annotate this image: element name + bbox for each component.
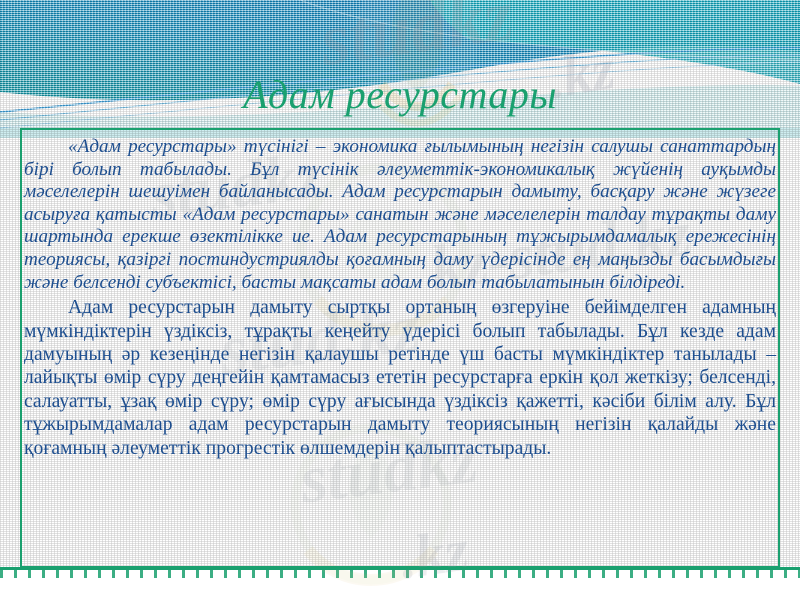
slide-title: Адам ресурстары — [0, 72, 800, 118]
bottom-speckle-texture — [0, 570, 800, 578]
bottom-speckle-band — [0, 570, 800, 600]
header-swoosh-graphic — [0, 0, 800, 140]
slide-canvas: studkz .kz studkz kz-stud.kz stud.kz stu… — [0, 0, 800, 600]
bottom-accent-rule — [0, 567, 800, 570]
paragraph-1: «Адам ресурстары» түсінігі – экономика ғ… — [24, 136, 776, 294]
paragraph-2: Адам ресурстарын дамыту сыртқы ортаның ө… — [24, 296, 776, 460]
header-decoration — [0, 0, 800, 140]
body-text-block: «Адам ресурстары» түсінігі – экономика ғ… — [24, 136, 776, 460]
